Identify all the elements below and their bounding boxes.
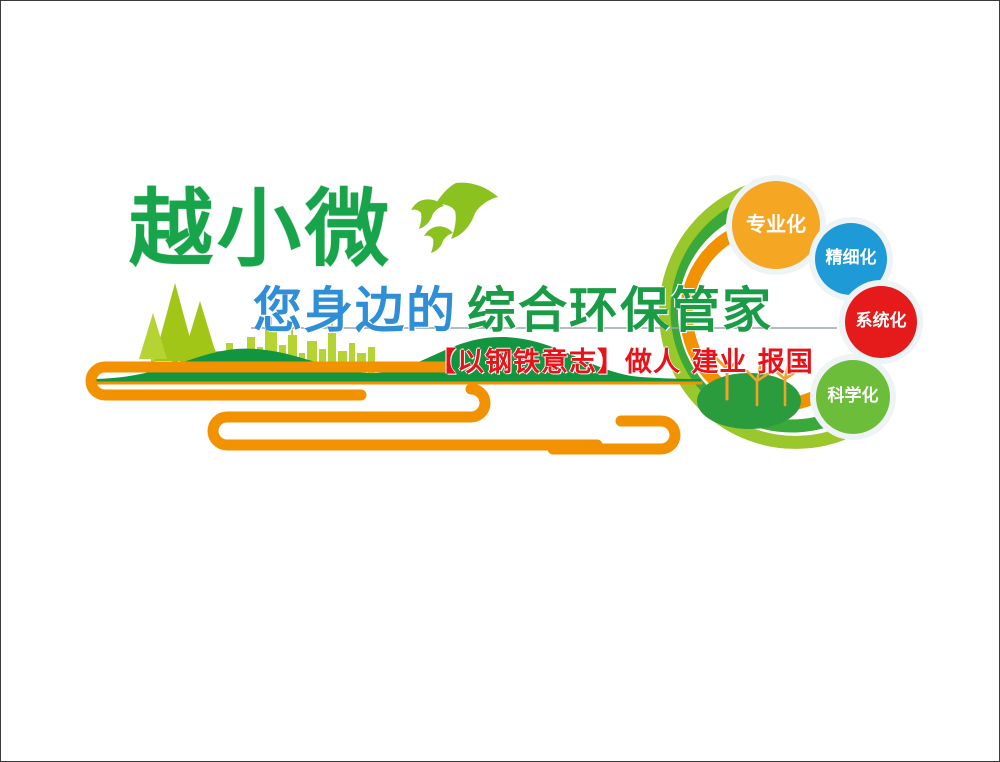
birds-group: [411, 183, 498, 253]
bird-tiny-icon: [424, 226, 453, 253]
badge-label-jingxihua[interactable]: 精细化: [815, 250, 887, 267]
badge-label-kexuehua[interactable]: 科学化: [816, 388, 890, 405]
slogan-red-text: 【以钢铁意志】做人 建业 报国: [429, 349, 814, 376]
poster-canvas: 越小微 您身边的 综合环保管家 【以钢铁意志】做人 建业 报国 专业化 精细化 …: [0, 0, 1000, 762]
bird-small-icon: [411, 199, 444, 229]
badge-label-zhuanyehua[interactable]: 专业化: [732, 214, 820, 234]
subtitle-green-part: 综合环保管家: [467, 286, 773, 335]
subtitle-blue-part: 您身边的: [253, 286, 457, 335]
poster-artwork: [1, 1, 1000, 762]
badge-label-xitonghua[interactable]: 系统化: [845, 313, 917, 330]
ribbon-right-loop: [553, 421, 675, 449]
page-title-main: 越小微: [129, 187, 393, 271]
